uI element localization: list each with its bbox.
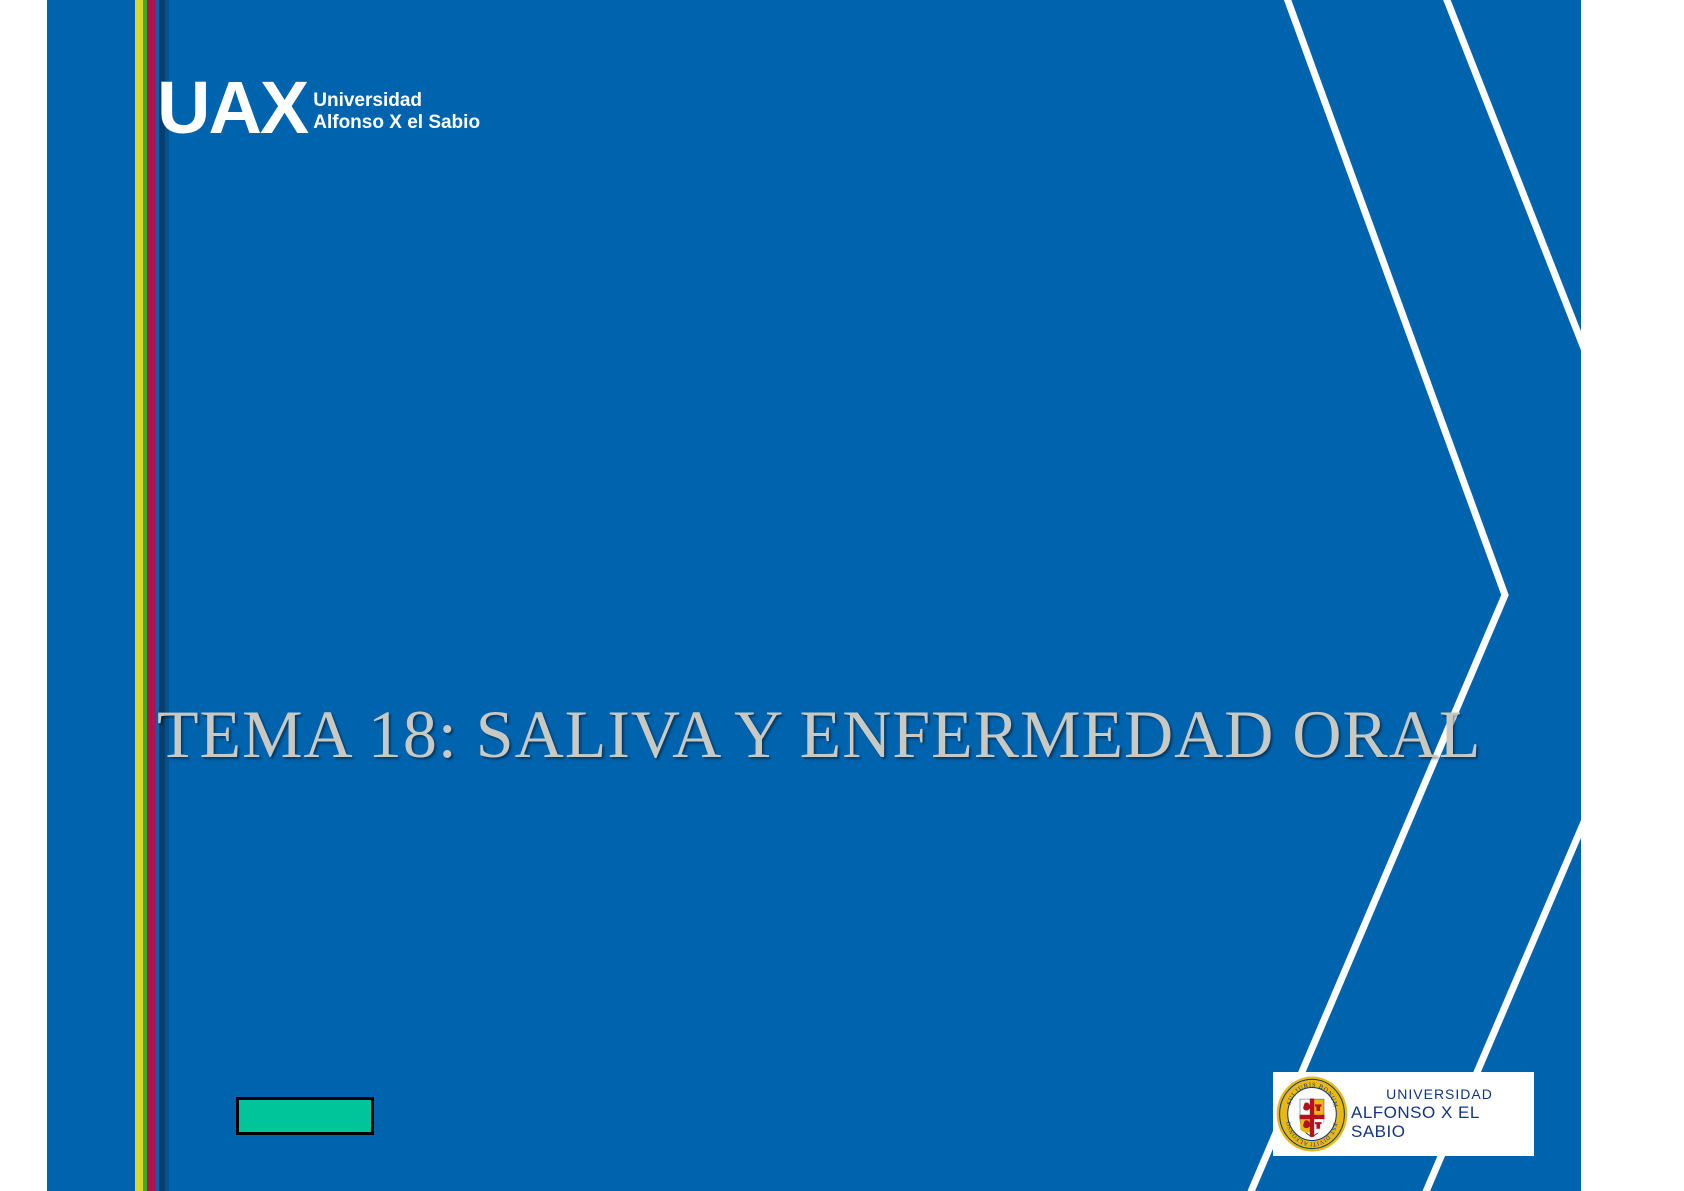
uax-university-name: Universidad Alfonso X el Sabio [313,90,480,139]
footer-logo-plate: SUI IURIS BONUM EST DIVITI ALFONSO X [1273,1072,1534,1156]
footer-logo-line-1: UNIVERSIDAD [1386,1087,1493,1103]
accent-stripe-yellow [135,0,143,1191]
uax-seal-graphic: SUI IURIS BONUM EST DIVITI ALFONSO X [1275,1075,1349,1153]
uax-seal-icon: SUI IURIS BONUM EST DIVITI ALFONSO X [1273,1073,1351,1155]
slide-title: TEMA 18: SALIVA Y ENFERMEDAD ORAL [157,694,1487,774]
uax-logo: UAX Universidad Alfonso X el Sabio [157,78,480,139]
uax-wordmark: UAX [157,78,307,139]
accent-stripe-deep [165,0,169,1191]
footer-logo-text: UNIVERSIDAD ALFONSO X EL SABIO [1351,1087,1534,1141]
presentation-slide: UAX Universidad Alfonso X el Sabio TEMA … [0,0,1684,1191]
footer-logo-line-2: ALFONSO X EL SABIO [1351,1103,1528,1141]
uax-name-line-1: Universidad [313,90,480,112]
green-placeholder-box[interactable] [236,1097,374,1135]
accent-stripe-crimson [147,0,156,1191]
slide-background: UAX Universidad Alfonso X el Sabio TEMA … [47,0,1581,1191]
chevron-line-2 [1422,0,1581,1191]
chevron-decoration [47,0,1581,1191]
chevron-line-1 [1247,0,1505,1191]
uax-name-line-2: Alfonso X el Sabio [313,112,480,134]
